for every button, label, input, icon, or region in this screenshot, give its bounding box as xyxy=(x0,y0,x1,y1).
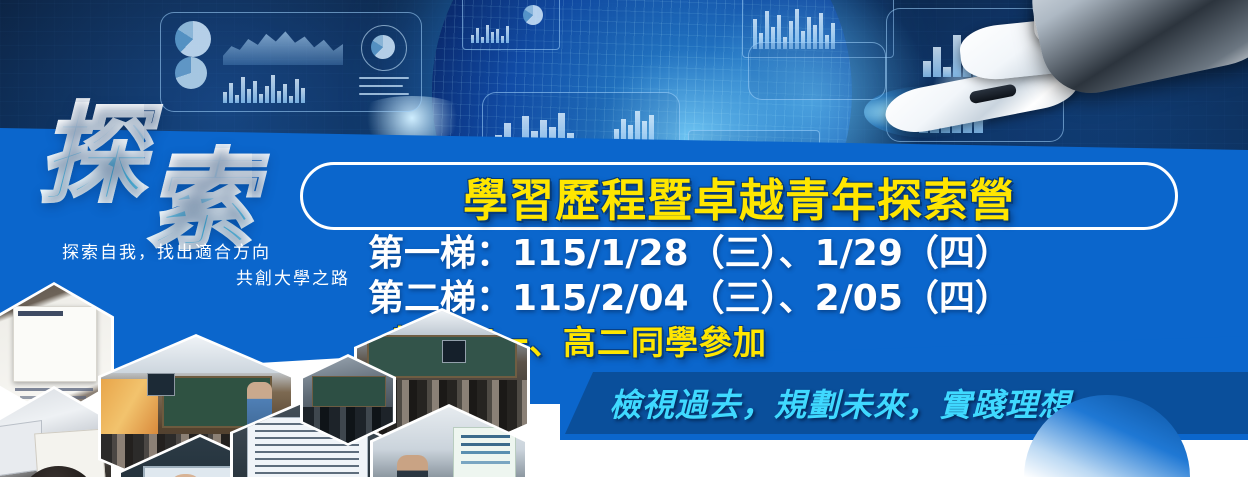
pie-chart-icon xyxy=(371,35,395,59)
hud-dashboard-panel xyxy=(160,12,422,112)
pie-chart-icon xyxy=(175,21,211,57)
event-title: 學習歷程暨卓越青年探索營 xyxy=(463,164,1015,229)
photo-collage xyxy=(0,282,482,477)
tagline-line-1: 探索自我，找出適合方向 xyxy=(62,240,352,266)
collage-photo-student-writing-notes-with-laptop xyxy=(0,386,114,477)
session-row-1: 第一梯：115/1/28（三）、1/29（四） xyxy=(368,231,1158,276)
slogan-text: 檢視過去，規劃未來，實踐理想 xyxy=(565,380,1071,426)
logo-char-tan: 探 xyxy=(38,102,144,210)
session-dates: 第一梯：115/1/28（三）、1/29（四） 第二梯：115/2/04（三）、… xyxy=(368,231,1158,321)
area-chart-graphic xyxy=(223,23,343,65)
pie-chart-icon xyxy=(175,57,207,89)
event-promo-banner: 探 索 探索自我，找出適合方向 共創大學之路 學習歷程暨卓越青年探索營 第一梯：… xyxy=(0,0,1248,477)
hud-outline-panel xyxy=(748,42,886,100)
bar-chart-graphic xyxy=(223,73,305,103)
event-title-pill: 學習歷程暨卓越青年探索營 xyxy=(300,162,1178,230)
bar-chart-graphic xyxy=(471,23,509,43)
session-row-2: 第二梯：115/2/04（三）、2/05（四） xyxy=(368,276,1158,321)
hud-mini-panel xyxy=(462,0,560,50)
tansuo-logo: 探 索 xyxy=(38,104,338,239)
pie-chart-icon xyxy=(523,5,543,25)
